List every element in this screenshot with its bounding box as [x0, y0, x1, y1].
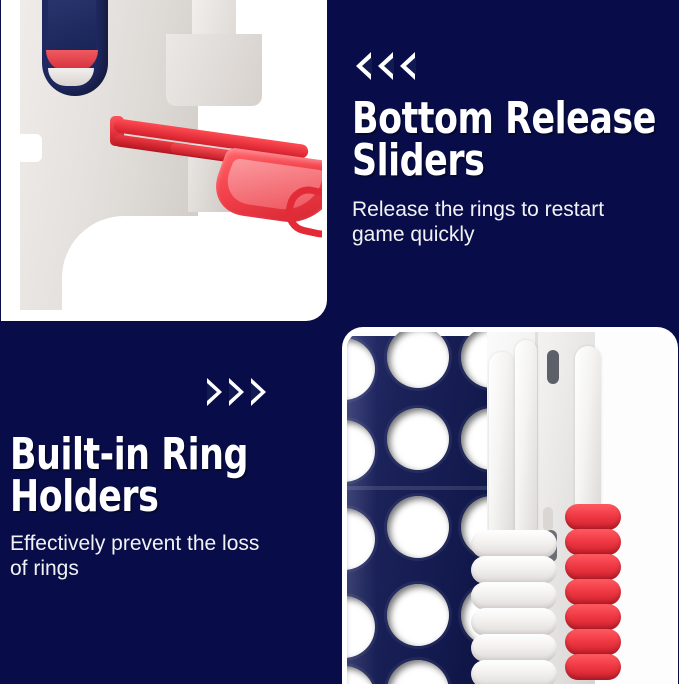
red-ring	[565, 554, 621, 580]
red-ring	[565, 604, 621, 630]
red-ring	[565, 529, 621, 555]
chevron-left-icon	[378, 52, 393, 80]
white-ring	[471, 582, 557, 610]
board-hole	[387, 408, 449, 470]
board-hole	[387, 660, 449, 684]
board-hole	[387, 332, 449, 388]
red-ring	[565, 579, 621, 605]
product-feature-collage: Bottom Release Sliders Release the rings…	[0, 0, 679, 679]
white-ring	[471, 556, 557, 584]
red-ring	[565, 629, 621, 655]
red-ring	[565, 504, 621, 530]
white-upright-post-base	[166, 34, 262, 106]
chevron-left-icon-group	[356, 52, 415, 80]
panel-notch	[16, 134, 42, 162]
feature-title-built-in-ring-holders: Built-in Ring Holders	[10, 434, 327, 518]
white-ring	[471, 634, 557, 662]
chevron-right-icon	[251, 378, 266, 406]
chevron-left-icon	[356, 52, 371, 80]
white-ring	[471, 660, 557, 684]
white-ring	[471, 608, 557, 636]
chevron-right-icon-group	[207, 378, 266, 406]
board-hole	[387, 584, 449, 646]
release-slider-photo	[6, 0, 322, 316]
white-ring	[471, 530, 557, 558]
chevron-left-icon	[400, 52, 415, 80]
ring-holder-rod	[575, 346, 601, 526]
ring-holder-rod	[515, 340, 537, 540]
column-slot-top	[547, 350, 559, 384]
red-ring-stack	[565, 504, 621, 684]
panel-arch-cutout	[62, 216, 212, 316]
board-hole	[387, 496, 449, 558]
chevron-right-icon	[207, 378, 222, 406]
white-ring-stack	[471, 530, 557, 684]
board-seam	[347, 486, 493, 490]
red-release-slider	[110, 106, 322, 226]
red-ring	[565, 654, 621, 680]
feature-description-built-in-ring-holders: Effectively prevent the loss of rings	[10, 532, 336, 582]
ring-holders-photo	[347, 332, 673, 684]
feature-title-bottom-release-sliders: Bottom Release Sliders	[352, 98, 669, 182]
column-slot-mid-light	[543, 507, 553, 531]
ring-holder-rod	[489, 352, 515, 542]
chevron-right-icon	[229, 378, 244, 406]
feature-description-bottom-release-sliders: Release the rings to restart game quickl…	[352, 198, 678, 248]
